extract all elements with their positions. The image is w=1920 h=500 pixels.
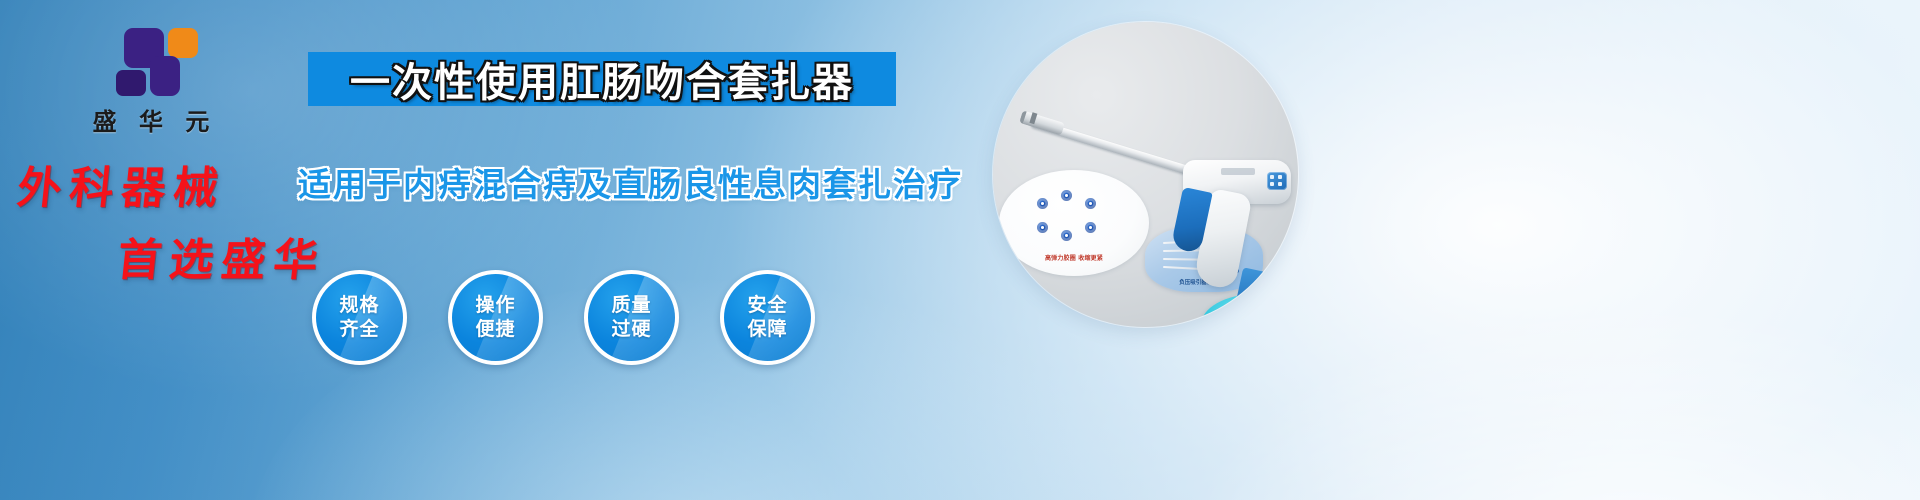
- feature-badge-operation[interactable]: 操作 便捷: [448, 270, 543, 365]
- title-band: 一次性使用肛肠吻合套扎器: [308, 52, 896, 106]
- device-tail: [1233, 267, 1269, 321]
- slogan-line-2: 首选盛华: [115, 224, 342, 288]
- feature-badge-quality[interactable]: 质量 过硬: [584, 270, 679, 365]
- device-label: [1221, 168, 1255, 175]
- feature-badge-list: 规格 齐全 操作 便捷 质量 过硬 安全 保障: [312, 270, 815, 365]
- slogan-line-1: 外科器械: [15, 152, 342, 216]
- product-photo[interactable]: 高弹力胶圈 收缩更紧 负压吸引器及连接管: [993, 22, 1298, 327]
- feature-label-line2: 齐全: [339, 318, 379, 341]
- feature-badge-specifications[interactable]: 规格 齐全: [312, 270, 407, 365]
- device-tip: [1019, 110, 1065, 135]
- promo-banner: 盛 华 元 一次性使用肛肠吻合套扎器 适用于内痔混合痔及直肠良性息肉套扎治疗 外…: [0, 0, 1920, 500]
- brand-logo[interactable]: 盛 华 元: [62, 26, 242, 137]
- feature-label-line1: 操作: [475, 294, 515, 317]
- logo-block-purple-bottom: [116, 70, 146, 96]
- slogan: 外科器械 首选盛华: [18, 152, 338, 288]
- feature-label-line1: 规格: [339, 294, 379, 317]
- feature-label-line2: 保障: [747, 318, 787, 341]
- feature-label-line1: 质量: [611, 294, 651, 317]
- feature-label-line1: 安全: [747, 294, 787, 317]
- feature-label-line2: 便捷: [475, 318, 515, 341]
- tube-tip-icon: [1287, 318, 1298, 327]
- logo-block-purple-right: [150, 56, 180, 96]
- ligation-device-icon: [1015, 74, 1285, 314]
- device-button-pad: [1267, 172, 1287, 190]
- feature-label-line2: 过硬: [611, 318, 651, 341]
- page-title: 一次性使用肛肠吻合套扎器: [350, 50, 854, 108]
- logo-block-orange: [168, 28, 198, 58]
- page-subtitle: 适用于内痔混合痔及直肠良性息肉套扎治疗: [298, 158, 918, 206]
- brand-name: 盛 华 元: [62, 102, 242, 137]
- background-glow-right: [1180, 300, 1920, 500]
- feature-badge-safety[interactable]: 安全 保障: [720, 270, 815, 365]
- logo-mark-icon: [106, 26, 198, 96]
